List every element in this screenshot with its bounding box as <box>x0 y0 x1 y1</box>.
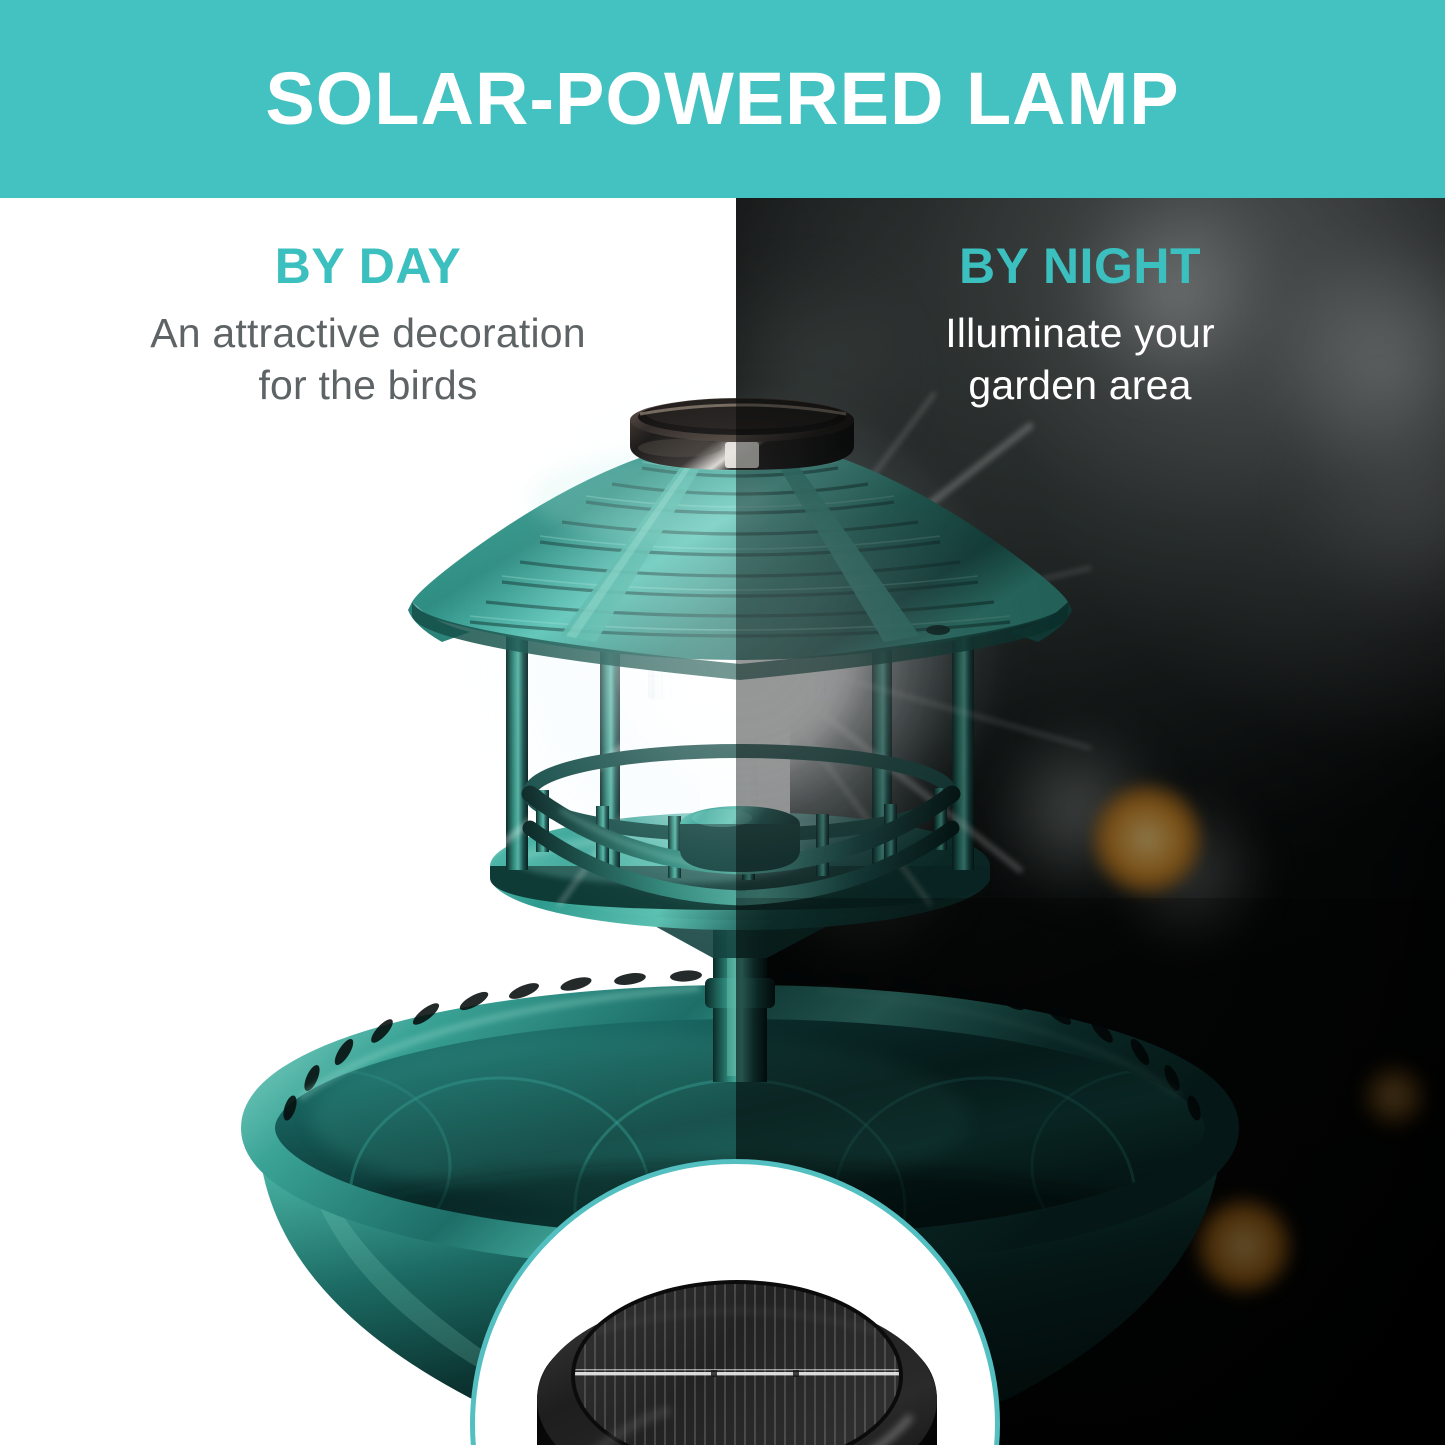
night-subtitle-line-2: garden area <box>760 359 1400 411</box>
bokeh-warm-light <box>1364 1066 1424 1126</box>
bokeh-blob <box>1106 793 1271 953</box>
night-heading: BY NIGHT <box>760 240 1400 293</box>
day-heading: BY DAY <box>40 240 696 293</box>
bokeh-warm-light <box>1091 783 1203 895</box>
day-subtitle: An attractive decoration for the birds <box>40 307 696 411</box>
header-banner: SOLAR-POWERED LAMP <box>0 0 1445 198</box>
bokeh-blob <box>761 763 961 963</box>
day-subtitle-line-2: for the birds <box>40 359 696 411</box>
day-label-group: BY DAY An attractive decoration for the … <box>40 240 696 411</box>
night-subtitle: Illuminate your garden area <box>760 307 1400 411</box>
product-marketing-image: SOLAR-POWERED LAMP <box>0 0 1445 1445</box>
page-title: SOLAR-POWERED LAMP <box>265 62 1179 136</box>
bokeh-warm-light <box>1196 1198 1292 1294</box>
night-subtitle-line-1: Illuminate your <box>760 307 1400 359</box>
solar-puck <box>537 1280 937 1445</box>
day-subtitle-line-1: An attractive decoration <box>40 307 696 359</box>
night-label-group: BY NIGHT Illuminate your garden area <box>760 240 1400 411</box>
bokeh-blob <box>981 718 1171 903</box>
